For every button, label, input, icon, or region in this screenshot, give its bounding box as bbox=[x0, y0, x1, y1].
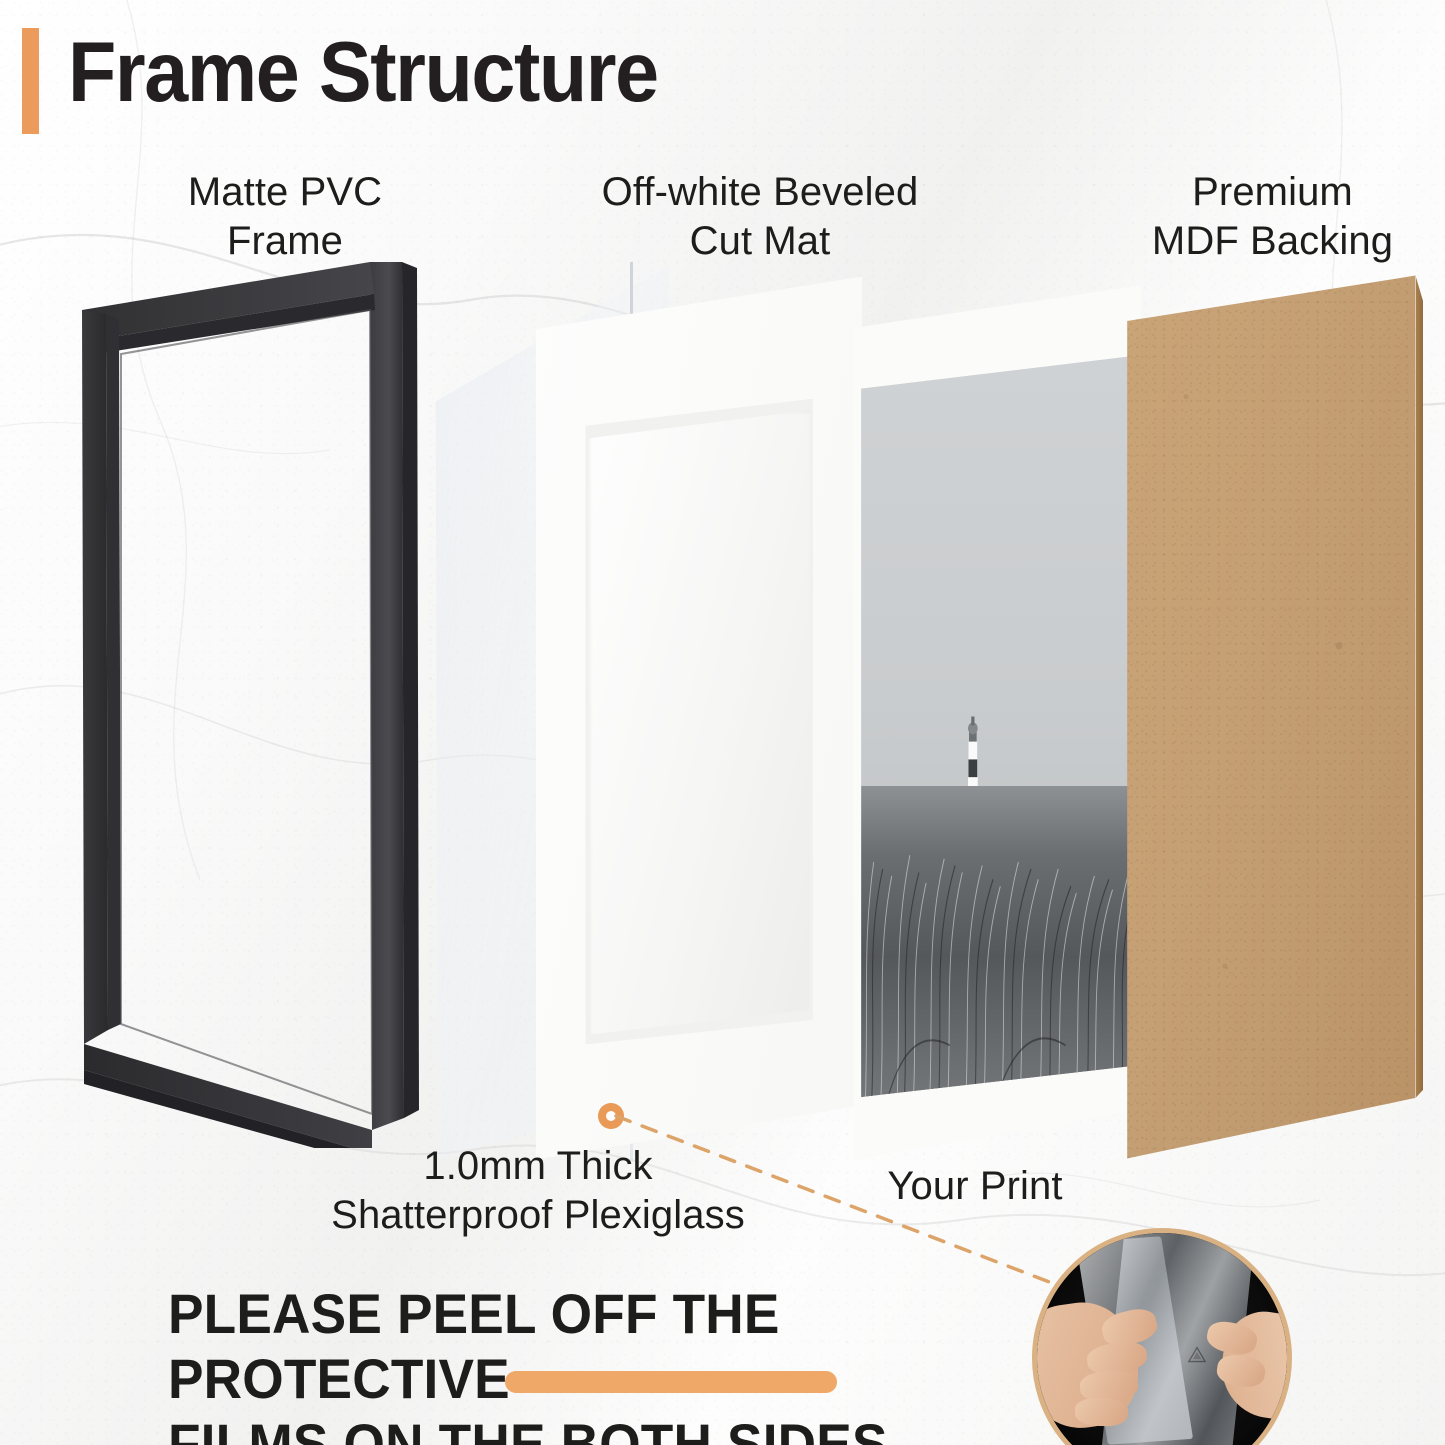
label-plexiglass: 1.0mm Thick Shatterproof Plexiglass bbox=[258, 1142, 818, 1240]
photo-dune-grass bbox=[861, 786, 1132, 1097]
layer-beveled-cut-mat bbox=[534, 272, 864, 1164]
print-photograph bbox=[861, 356, 1132, 1097]
label-mdf-backing: Premium MDF Backing bbox=[1100, 168, 1445, 266]
label-your-print: Your Print bbox=[830, 1162, 1120, 1211]
peel-film-notice: PLEASE PEEL OFF THE PROTECTIVE FILMS ON … bbox=[168, 1282, 995, 1445]
label-matte-pvc-frame: Matte PVC Frame bbox=[120, 168, 450, 266]
label-line-2: MDF Backing bbox=[1100, 217, 1445, 266]
label-line-2: Frame bbox=[120, 217, 450, 266]
label-line-2: Shatterproof Plexiglass bbox=[258, 1191, 818, 1240]
notice-line-2: FILMS ON THE BOTH SIDES bbox=[168, 1412, 888, 1445]
label-line-1: Premium bbox=[1100, 168, 1445, 217]
photo-sky bbox=[861, 356, 1132, 845]
title-accent-bar bbox=[22, 28, 39, 134]
peel-film-inset-photo bbox=[1032, 1228, 1292, 1445]
infographic-canvas: Frame Structure bbox=[0, 0, 1445, 1445]
plexiglass-callout-marker bbox=[598, 1103, 624, 1129]
left-little-finger bbox=[1074, 1397, 1127, 1426]
layer-mdf-backing bbox=[1126, 272, 1426, 1162]
label-cut-mat: Off-white Beveled Cut Mat bbox=[540, 168, 980, 266]
film-triangle-logo-icon bbox=[1187, 1346, 1207, 1364]
mdf-board-edge bbox=[1416, 276, 1424, 1098]
grass-blades-icon bbox=[861, 786, 1132, 1097]
label-line-1: Off-white Beveled bbox=[540, 168, 980, 217]
layer-print-photo bbox=[852, 282, 1142, 1164]
label-line-2: Cut Mat bbox=[540, 217, 980, 266]
pvc-frame-icon bbox=[72, 258, 432, 1148]
mdf-fiber-texture bbox=[1126, 272, 1426, 1162]
mat-window-opening bbox=[588, 410, 809, 1034]
layer-matte-pvc-frame bbox=[72, 258, 432, 1148]
label-line-1: 1.0mm Thick bbox=[258, 1142, 818, 1191]
label-line-1: Matte PVC bbox=[120, 168, 450, 217]
notice-highlight-underline bbox=[505, 1371, 837, 1393]
page-title: Frame Structure bbox=[68, 24, 658, 122]
